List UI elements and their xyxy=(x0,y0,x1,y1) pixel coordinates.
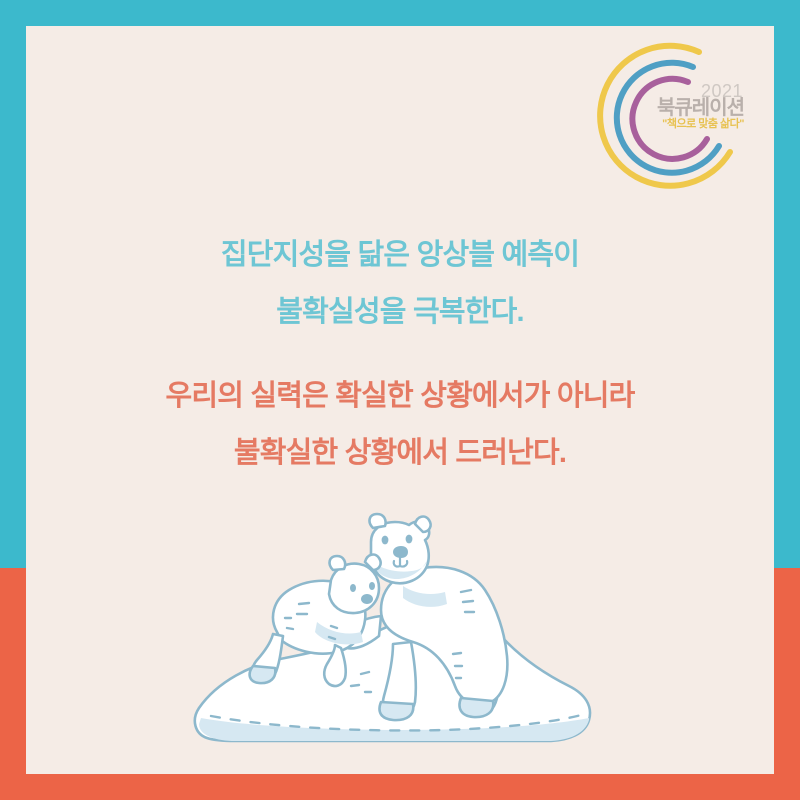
book-curation-logo: 2021 북큐레이션 "책으로 맞춤 삶다" xyxy=(587,34,752,199)
card-content-area: 2021 북큐레이션 "책으로 맞춤 삶다" 집단지성을 닮은 앙상블 예측이 … xyxy=(26,26,774,774)
polar-bears-on-iceberg-icon xyxy=(165,506,635,756)
quote-primary-line-1: 집단지성을 닮은 앙상블 예측이 xyxy=(26,241,774,270)
quote-secondary-line-2: 불확실한 상황에서 드러난다. xyxy=(26,439,774,468)
quote-primary: 집단지성을 닮은 앙상블 예측이 불확실성을 극복한다. xyxy=(26,241,774,327)
quote-secondary-line-1: 우리의 실력은 확실한 상황에서가 아니라 xyxy=(26,382,774,411)
quote-secondary: 우리의 실력은 확실한 상황에서가 아니라 불확실한 상황에서 드러난다. xyxy=(26,382,774,468)
quote-primary-line-2: 불확실성을 극복한다. xyxy=(26,298,774,327)
logo-title: 북큐레이션 xyxy=(636,98,744,118)
logo-subtitle: "책으로 맞춤 삶다" xyxy=(636,119,744,130)
polar-bears-illustration xyxy=(165,506,635,756)
logo-text-group: 2021 북큐레이션 "책으로 맞춤 삶다" xyxy=(636,82,744,130)
book-curation-quote-card: 2021 북큐레이션 "책으로 맞춤 삶다" 집단지성을 닮은 앙상블 예측이 … xyxy=(0,0,800,800)
